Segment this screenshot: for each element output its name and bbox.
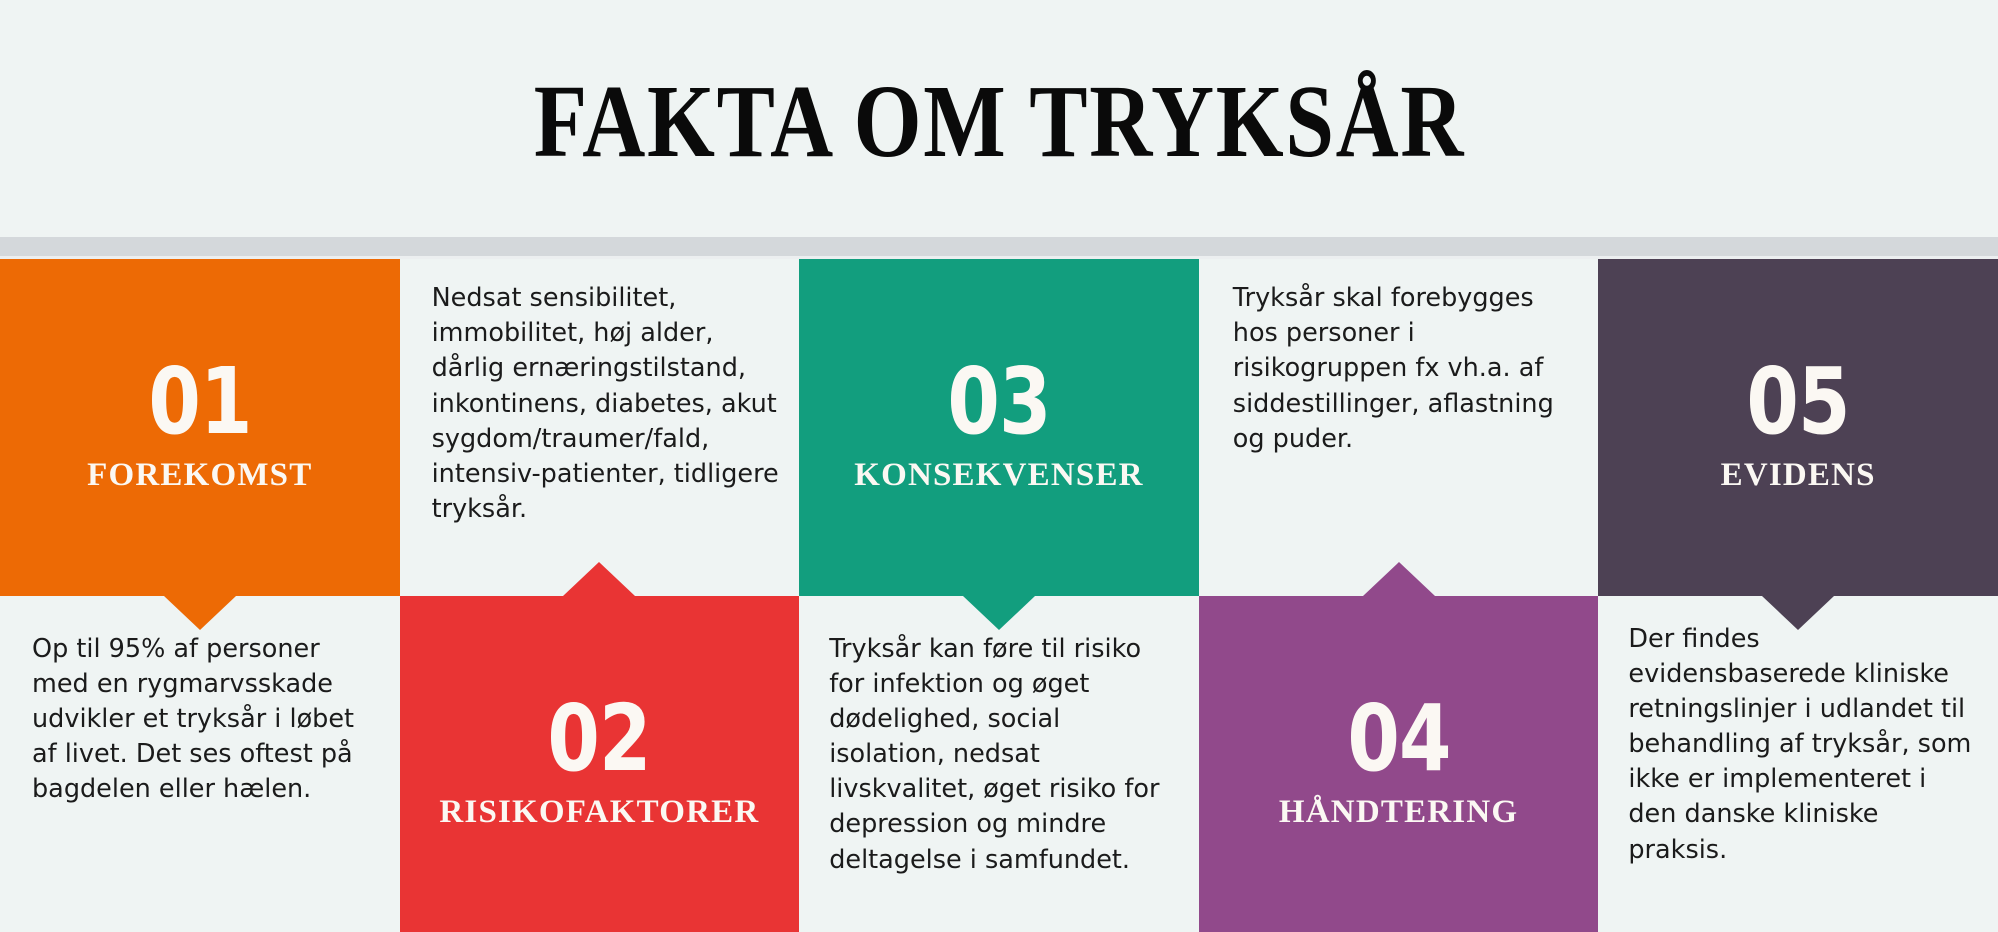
panel-02[interactable]: 02 RISIKOFAKTORER <box>400 596 800 932</box>
column-04: Tryksår skal forebygges hos personer i r… <box>1199 259 1599 932</box>
column-05: 05 EVIDENS Der findes evidensbaserede kl… <box>1598 259 1998 932</box>
column-01: 01 FOREKOMST Op til 95% af personer med … <box>0 259 400 932</box>
textblock-01-text: Op til 95% af personer med en rygmarvssk… <box>32 632 372 808</box>
panel-01[interactable]: 01 FOREKOMST <box>0 259 400 596</box>
column-03: 03 KONSEKVENSER Tryksår kan føre til ris… <box>799 259 1199 932</box>
panel-04[interactable]: 04 HÅNDTERING <box>1199 596 1599 932</box>
panel-03[interactable]: 03 KONSEKVENSER <box>799 259 1199 596</box>
arrow-up-icon-02 <box>563 562 635 596</box>
column-01-bottom: Op til 95% af personer med en rygmarvssk… <box>0 596 400 932</box>
arrow-down-icon-05 <box>1762 596 1834 630</box>
divider-strip <box>0 237 1998 256</box>
header: FAKTA OM TRYKSÅR <box>0 0 1998 237</box>
textblock-04: Tryksår skal forebygges hos personer i r… <box>1199 259 1599 596</box>
panel-05-label: EVIDENS <box>1721 457 1876 494</box>
panel-01-number: 01 <box>148 360 251 445</box>
textblock-03: Tryksår kan føre til risiko for infektio… <box>799 596 1199 932</box>
panel-01-label: FOREKOMST <box>87 457 312 494</box>
textblock-03-text: Tryksår kan føre til risiko for infektio… <box>829 632 1175 878</box>
column-05-top: 05 EVIDENS <box>1598 259 1998 596</box>
panel-05-number: 05 <box>1746 360 1849 445</box>
textblock-02-text: Nedsat sensibilitet, immobilitet, høj al… <box>432 281 784 527</box>
panel-03-number: 03 <box>947 360 1050 445</box>
textblock-05-text: Der findes evidensbaserede kliniske retn… <box>1628 622 1974 868</box>
column-03-top: 03 KONSEKVENSER <box>799 259 1199 596</box>
panel-03-label: KONSEKVENSER <box>854 457 1143 494</box>
panel-05[interactable]: 05 EVIDENS <box>1598 259 1998 596</box>
textblock-04-text: Tryksår skal forebygges hos personer i r… <box>1233 281 1577 457</box>
column-01-top: 01 FOREKOMST <box>0 259 400 596</box>
panel-02-label: RISIKOFAKTORER <box>439 794 759 831</box>
panel-04-number: 04 <box>1347 697 1450 782</box>
arrow-up-icon-04 <box>1363 562 1435 596</box>
columns-container: 01 FOREKOMST Op til 95% af personer med … <box>0 259 1998 932</box>
page-title: FAKTA OM TRYKSÅR <box>533 70 1464 174</box>
column-05-bottom: Der findes evidensbaserede kliniske retn… <box>1598 596 1998 932</box>
column-04-bottom: 04 HÅNDTERING <box>1199 596 1599 932</box>
column-02: Nedsat sensibilitet, immobilitet, høj al… <box>400 259 800 932</box>
arrow-down-icon-01 <box>164 596 236 630</box>
textblock-05: Der findes evidensbaserede kliniske retn… <box>1598 596 1998 932</box>
infographic-root: FAKTA OM TRYKSÅR 01 FOREKOMST Op til 95%… <box>0 0 1998 932</box>
panel-04-label: HÅNDTERING <box>1279 794 1518 831</box>
panel-02-number: 02 <box>548 697 651 782</box>
textblock-02: Nedsat sensibilitet, immobilitet, høj al… <box>400 259 800 596</box>
column-02-bottom: 02 RISIKOFAKTORER <box>400 596 800 932</box>
column-04-top: Tryksår skal forebygges hos personer i r… <box>1199 259 1599 596</box>
column-02-top: Nedsat sensibilitet, immobilitet, høj al… <box>400 259 800 596</box>
textblock-01: Op til 95% af personer med en rygmarvssk… <box>0 596 400 932</box>
column-03-bottom: Tryksår kan føre til risiko for infektio… <box>799 596 1199 932</box>
arrow-down-icon-03 <box>963 596 1035 630</box>
